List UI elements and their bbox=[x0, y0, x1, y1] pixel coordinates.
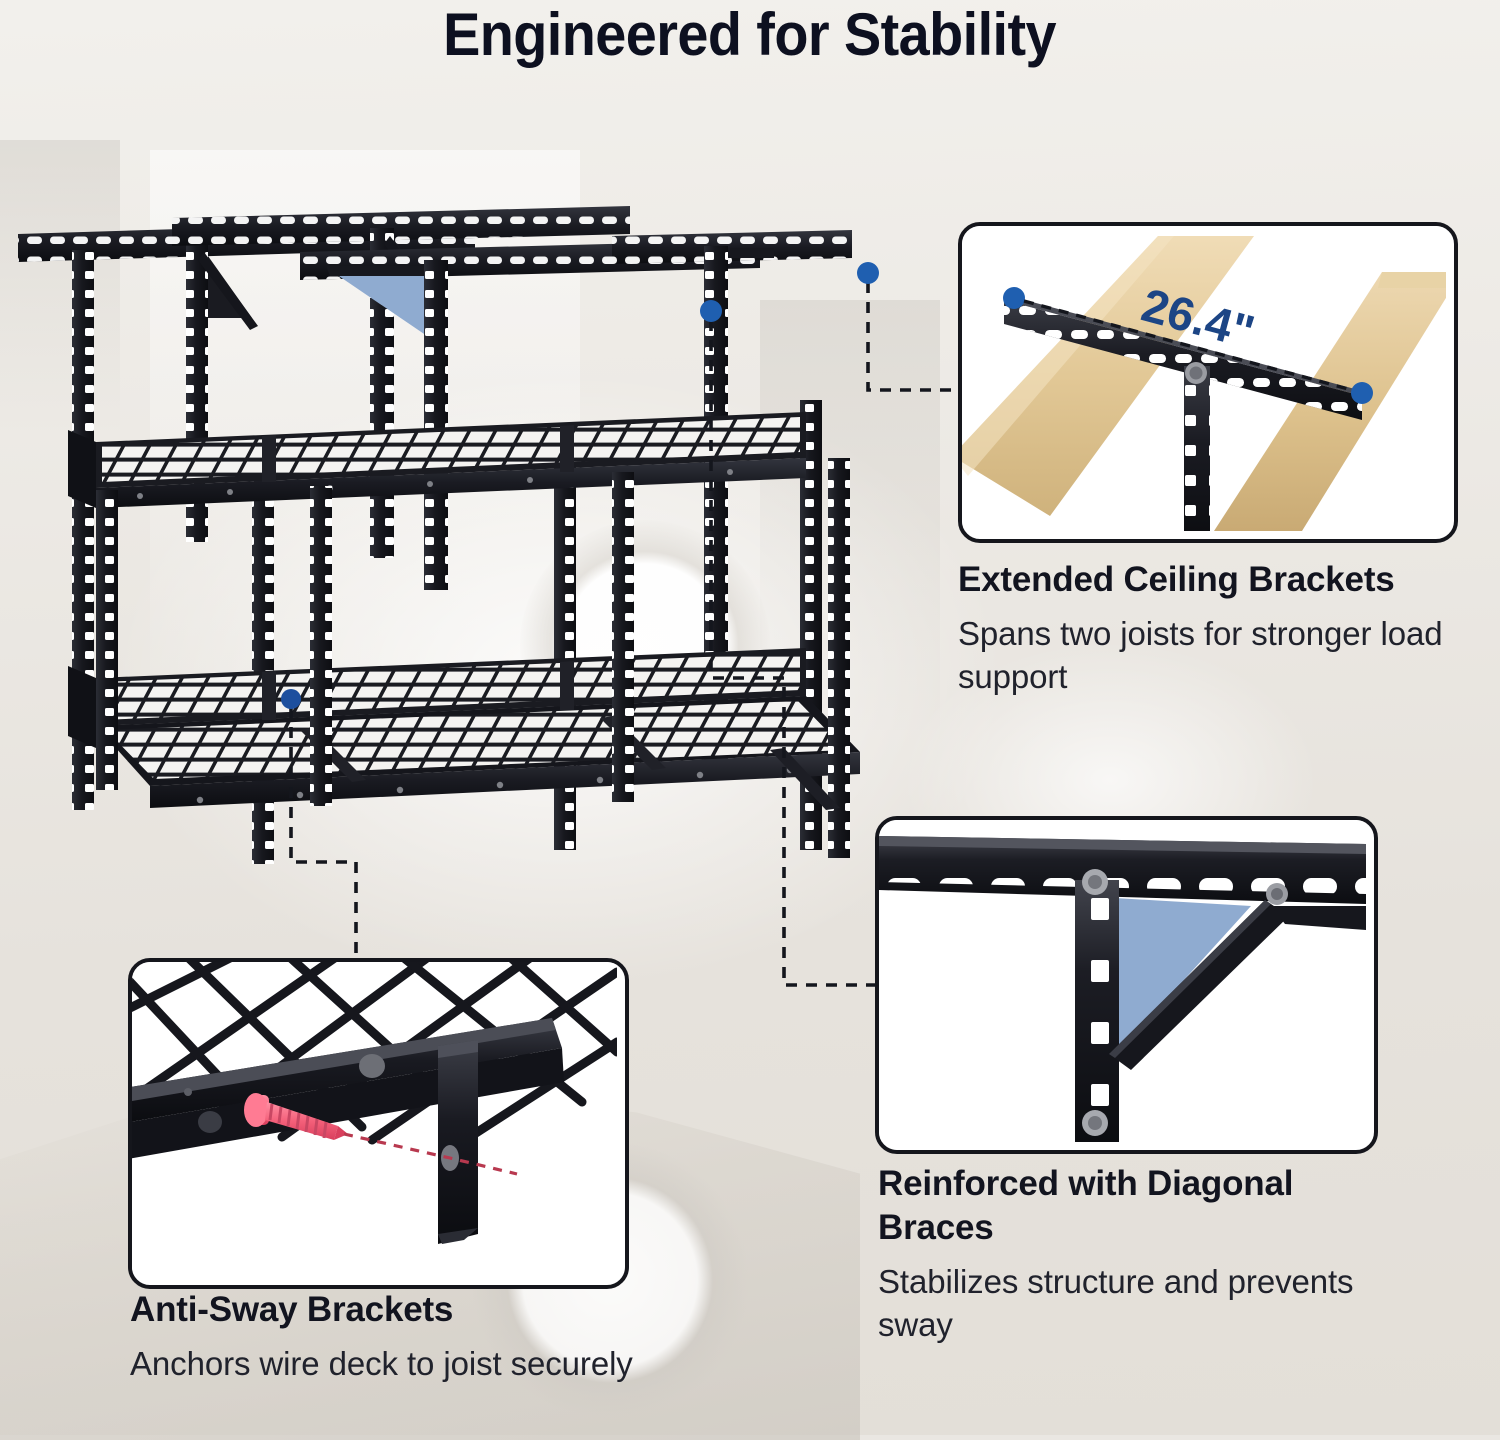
vertical-post bbox=[1075, 880, 1119, 1142]
caption-anti-sway-brackets: Anti-Sway Brackets Anchors wire deck to … bbox=[130, 1288, 770, 1385]
panel-anti-sway-brackets bbox=[128, 958, 629, 1289]
page-title-text: Engineered for Stability bbox=[444, 2, 1057, 68]
caption-diagonal-braces: Reinforced with Diagonal Braces Stabiliz… bbox=[878, 1162, 1358, 1346]
panel-diagonal-braces bbox=[875, 816, 1378, 1154]
caption-heading: Anti-Sway Brackets bbox=[130, 1288, 770, 1332]
anti-sway-post bbox=[438, 1040, 478, 1244]
caption-extended-ceiling-brackets: Extended Ceiling Brackets Spans two jois… bbox=[958, 558, 1458, 698]
shelf-lower bbox=[68, 648, 860, 808]
caption-body: Spans two joists for stronger load suppo… bbox=[958, 612, 1458, 698]
caption-heading: Extended Ceiling Brackets bbox=[958, 558, 1458, 602]
dimension-start-dot bbox=[1003, 287, 1025, 309]
rack-geometry bbox=[18, 206, 860, 864]
page-title: Engineered for Stability bbox=[0, 2, 1500, 68]
panel-extended-ceiling-brackets: 26.4" bbox=[958, 222, 1458, 543]
caption-heading: Reinforced with Diagonal Braces bbox=[878, 1162, 1358, 1250]
dimension-end-dot bbox=[1351, 382, 1373, 404]
ceiling-bracket-3 bbox=[300, 240, 760, 590]
caption-body: Anchors wire deck to joist securely bbox=[130, 1342, 770, 1385]
product-render-overhead-rack bbox=[0, 190, 900, 910]
caption-body: Stabilizes structure and prevents sway bbox=[878, 1260, 1358, 1346]
